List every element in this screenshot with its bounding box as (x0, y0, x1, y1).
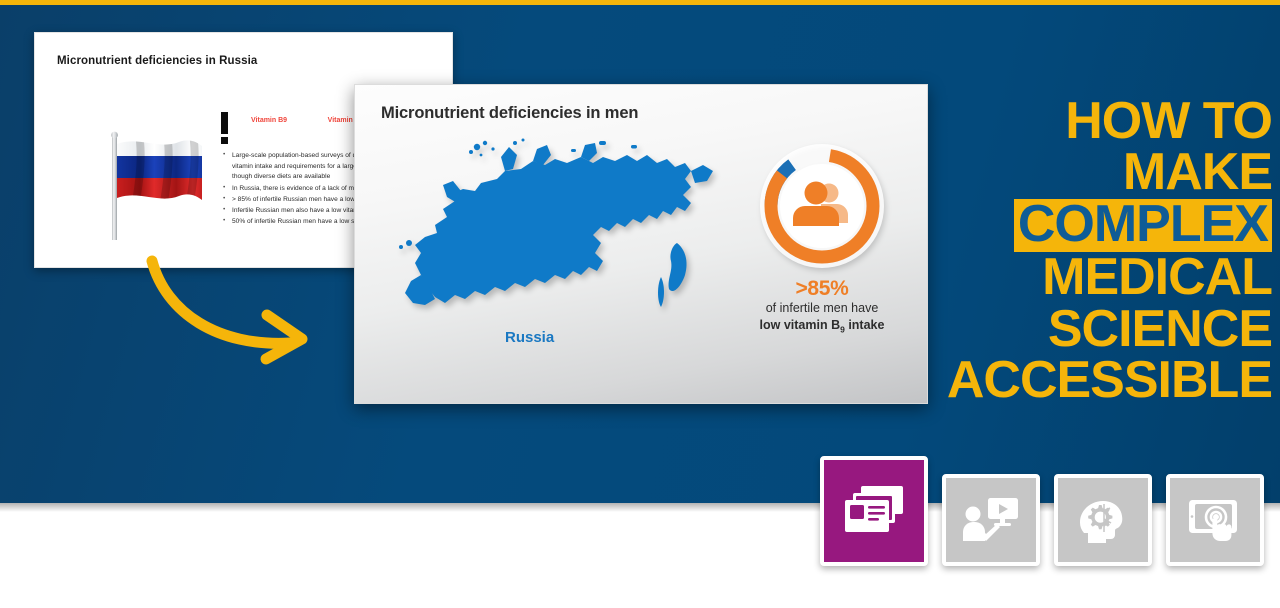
top-accent-rule (0, 0, 1280, 5)
curved-arrow (140, 255, 350, 375)
statistic-caption-line1: of infertile men have (727, 301, 917, 317)
category-tiles (820, 456, 1264, 566)
presentation-training-tile[interactable] (942, 474, 1040, 566)
russian-flag-image (101, 128, 211, 248)
brain-gear-head-icon (1076, 495, 1130, 545)
statistic-caption-suffix: intake (845, 318, 885, 332)
statistic-value: >85% (727, 277, 917, 301)
headline-line-5: SCIENCE (932, 304, 1272, 355)
front-slide-card[interactable]: Micronutrient deficiencies in men (354, 84, 928, 404)
headline-line-1: HOW TO (932, 96, 1272, 147)
slides-stack-icon (843, 484, 905, 538)
headline-line-2: MAKE (932, 147, 1272, 198)
statistic-block: >85% of infertile men have low vitamin B… (727, 143, 917, 393)
back-slide-title: Micronutrient deficiencies in Russia (57, 55, 257, 67)
headline-line-4: MEDICAL (932, 252, 1272, 303)
vitamin-header-b9: Vitamin B9 (251, 117, 328, 124)
headline: HOW TO MAKE COMPLEX MEDICAL SCIENCE ACCE… (932, 96, 1272, 407)
page-title: Micronutrient deficiencies in men (381, 104, 638, 123)
headline-line-3-highlight: COMPLEX (1014, 199, 1272, 252)
slide-banner: Micronutrient deficiencies in Russia Vit… (0, 0, 1280, 608)
exclamation-mark-icon (221, 112, 228, 144)
tablet-touch-icon (1186, 496, 1244, 544)
statistic-caption-prefix: low vitamin B (760, 318, 841, 332)
donut-chart (759, 143, 885, 269)
presenter-monitor-icon (962, 495, 1020, 545)
interactive-tablet-tile[interactable] (1166, 474, 1264, 566)
statistic-caption-line2: low vitamin B9 intake (727, 317, 917, 336)
headline-line-6: ACCESSIBLE (932, 355, 1272, 406)
map-country-label: Russia (505, 329, 554, 346)
medical-knowledge-tile[interactable] (1054, 474, 1152, 566)
slides-deck-tile[interactable] (820, 456, 928, 566)
russia-map (385, 125, 745, 360)
